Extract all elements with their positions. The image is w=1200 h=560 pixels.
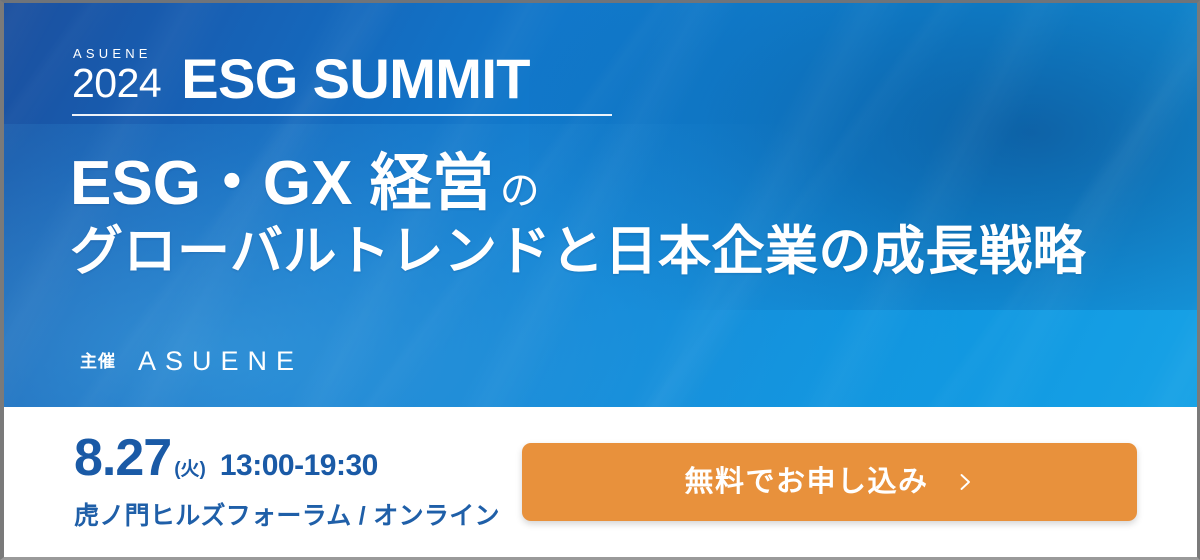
brand-wordmark-small: ASUENE bbox=[73, 47, 152, 60]
headline-line-1-particle: の bbox=[494, 169, 540, 213]
event-venue: 虎ノ門ヒルズフォーラム / オンライン bbox=[74, 496, 500, 532]
organizer-block: 主催 ASUENE bbox=[80, 348, 303, 375]
event-day-of-week: (火) bbox=[171, 460, 206, 479]
hero-content: ASUENE 2024 ESG SUMMIT ESG・GX 経営の グローバルト… bbox=[4, 3, 1197, 407]
organizer-logo: ASUENE bbox=[138, 348, 303, 375]
event-time: 13:00-19:30 bbox=[206, 451, 378, 481]
lockup-underline-rule bbox=[72, 114, 612, 116]
organizer-logo-wordmark: ASUENE bbox=[138, 348, 303, 375]
organizer-label: 主催 bbox=[80, 353, 116, 370]
headline-line-1-main: ESG・GX 経営 bbox=[70, 149, 494, 218]
event-date-line: 8.27 (火) 13:00-19:30 bbox=[74, 432, 500, 484]
register-button-label: 無料でお申し込み bbox=[684, 468, 928, 497]
headline: ESG・GX 経営の グローバルトレンドと日本企業の成長戦略 bbox=[70, 151, 1086, 281]
event-lockup-left: ASUENE 2024 bbox=[72, 47, 161, 105]
footer-bar: 8.27 (火) 13:00-19:30 虎ノ門ヒルズフォーラム / オンライン… bbox=[4, 407, 1197, 557]
event-title: ESG SUMMIT bbox=[181, 53, 530, 105]
event-date: 8.27 bbox=[74, 432, 171, 484]
event-banner: ASUENE 2024 ESG SUMMIT ESG・GX 経営の グローバルト… bbox=[0, 0, 1200, 560]
event-details: 8.27 (火) 13:00-19:30 虎ノ門ヒルズフォーラム / オンライン bbox=[74, 432, 500, 532]
chevron-right-icon bbox=[955, 472, 975, 492]
cta-container: 無料でお申し込み bbox=[522, 443, 1143, 521]
hero-section: ASUENE 2024 ESG SUMMIT ESG・GX 経営の グローバルト… bbox=[4, 3, 1197, 407]
headline-line-2: グローバルトレンドと日本企業の成長戦略 bbox=[70, 222, 1086, 281]
event-lockup-row: ASUENE 2024 ESG SUMMIT bbox=[72, 47, 617, 105]
event-year: 2024 bbox=[72, 65, 161, 103]
register-button[interactable]: 無料でお申し込み bbox=[522, 443, 1137, 521]
headline-line-1: ESG・GX 経営の bbox=[70, 151, 1086, 218]
event-lockup: ASUENE 2024 ESG SUMMIT bbox=[72, 47, 617, 116]
